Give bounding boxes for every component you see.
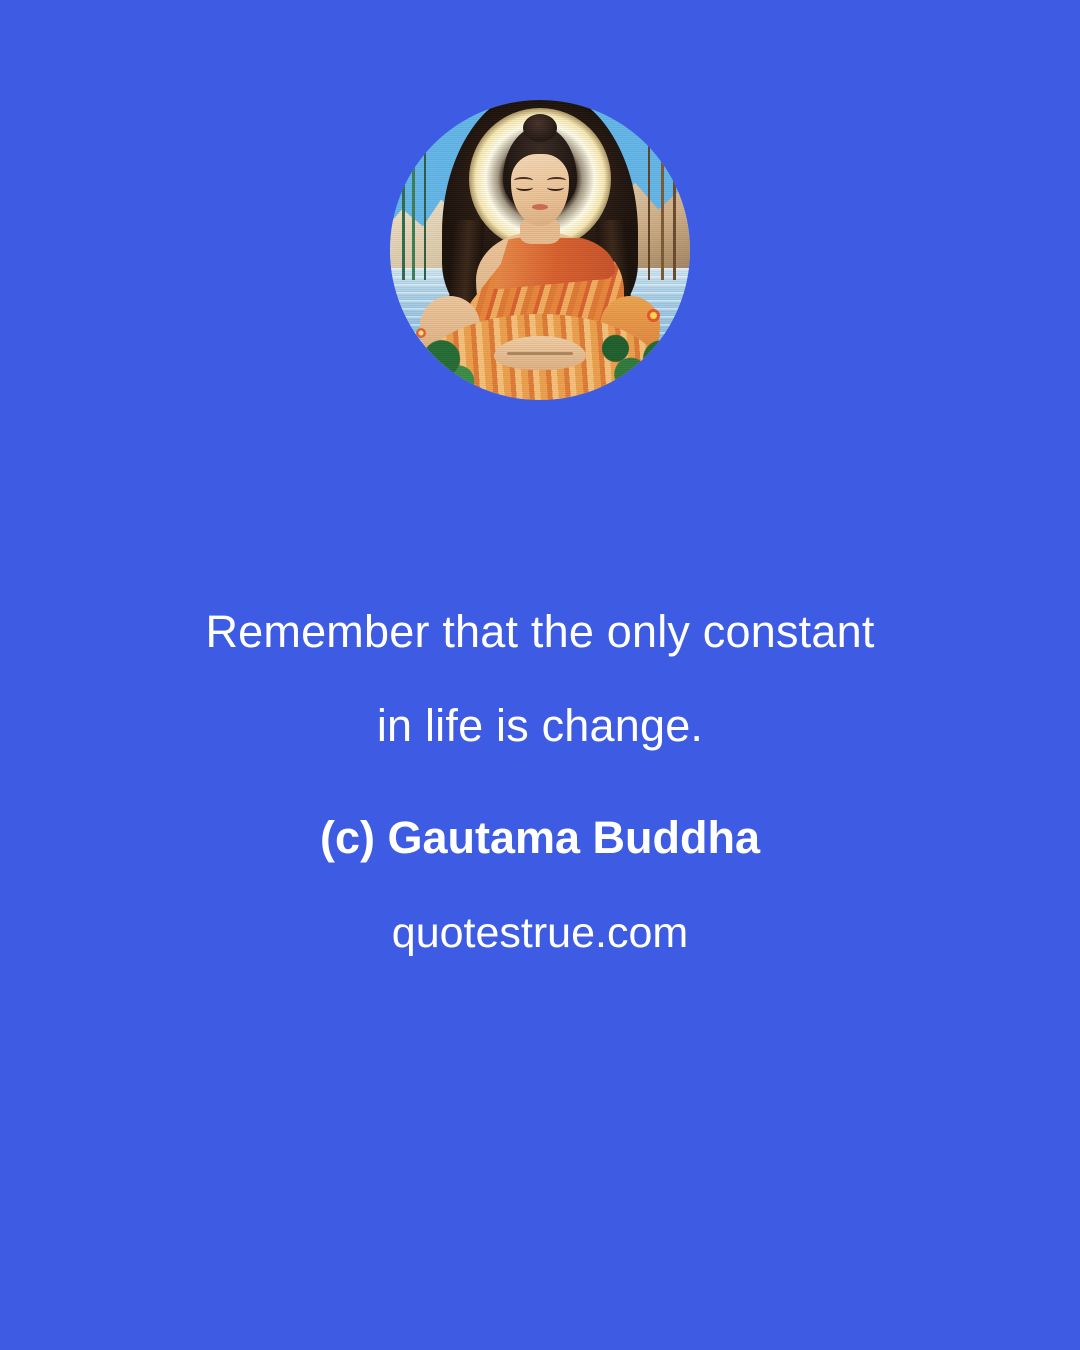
eyebrow-right-shape [547,177,566,184]
quote-line-2: in life is change. [0,679,1080,773]
quote-card: Remember that the only constant in life … [0,0,1080,1350]
flower-left-shape [416,328,426,338]
quote-line-1: Remember that the only constant [0,585,1080,679]
flower-right-shape [647,309,660,322]
hands-mudra-shape [494,336,586,370]
portrait-canvas [390,100,690,400]
topknot-shape [523,114,557,142]
eyebrow-left-shape [514,177,533,184]
quote-attribution: (c) Gautama Buddha [0,811,1080,865]
buddha-portrait-image [390,100,690,400]
lips-shape [532,204,548,210]
eye-right-shape [547,184,564,191]
quote-text-block: Remember that the only constant in life … [0,585,1080,959]
website-credit: quotestrue.com [0,907,1080,959]
foliage-right-shape [602,314,690,400]
eye-left-shape [516,184,533,191]
foliage-left-shape [390,314,478,400]
